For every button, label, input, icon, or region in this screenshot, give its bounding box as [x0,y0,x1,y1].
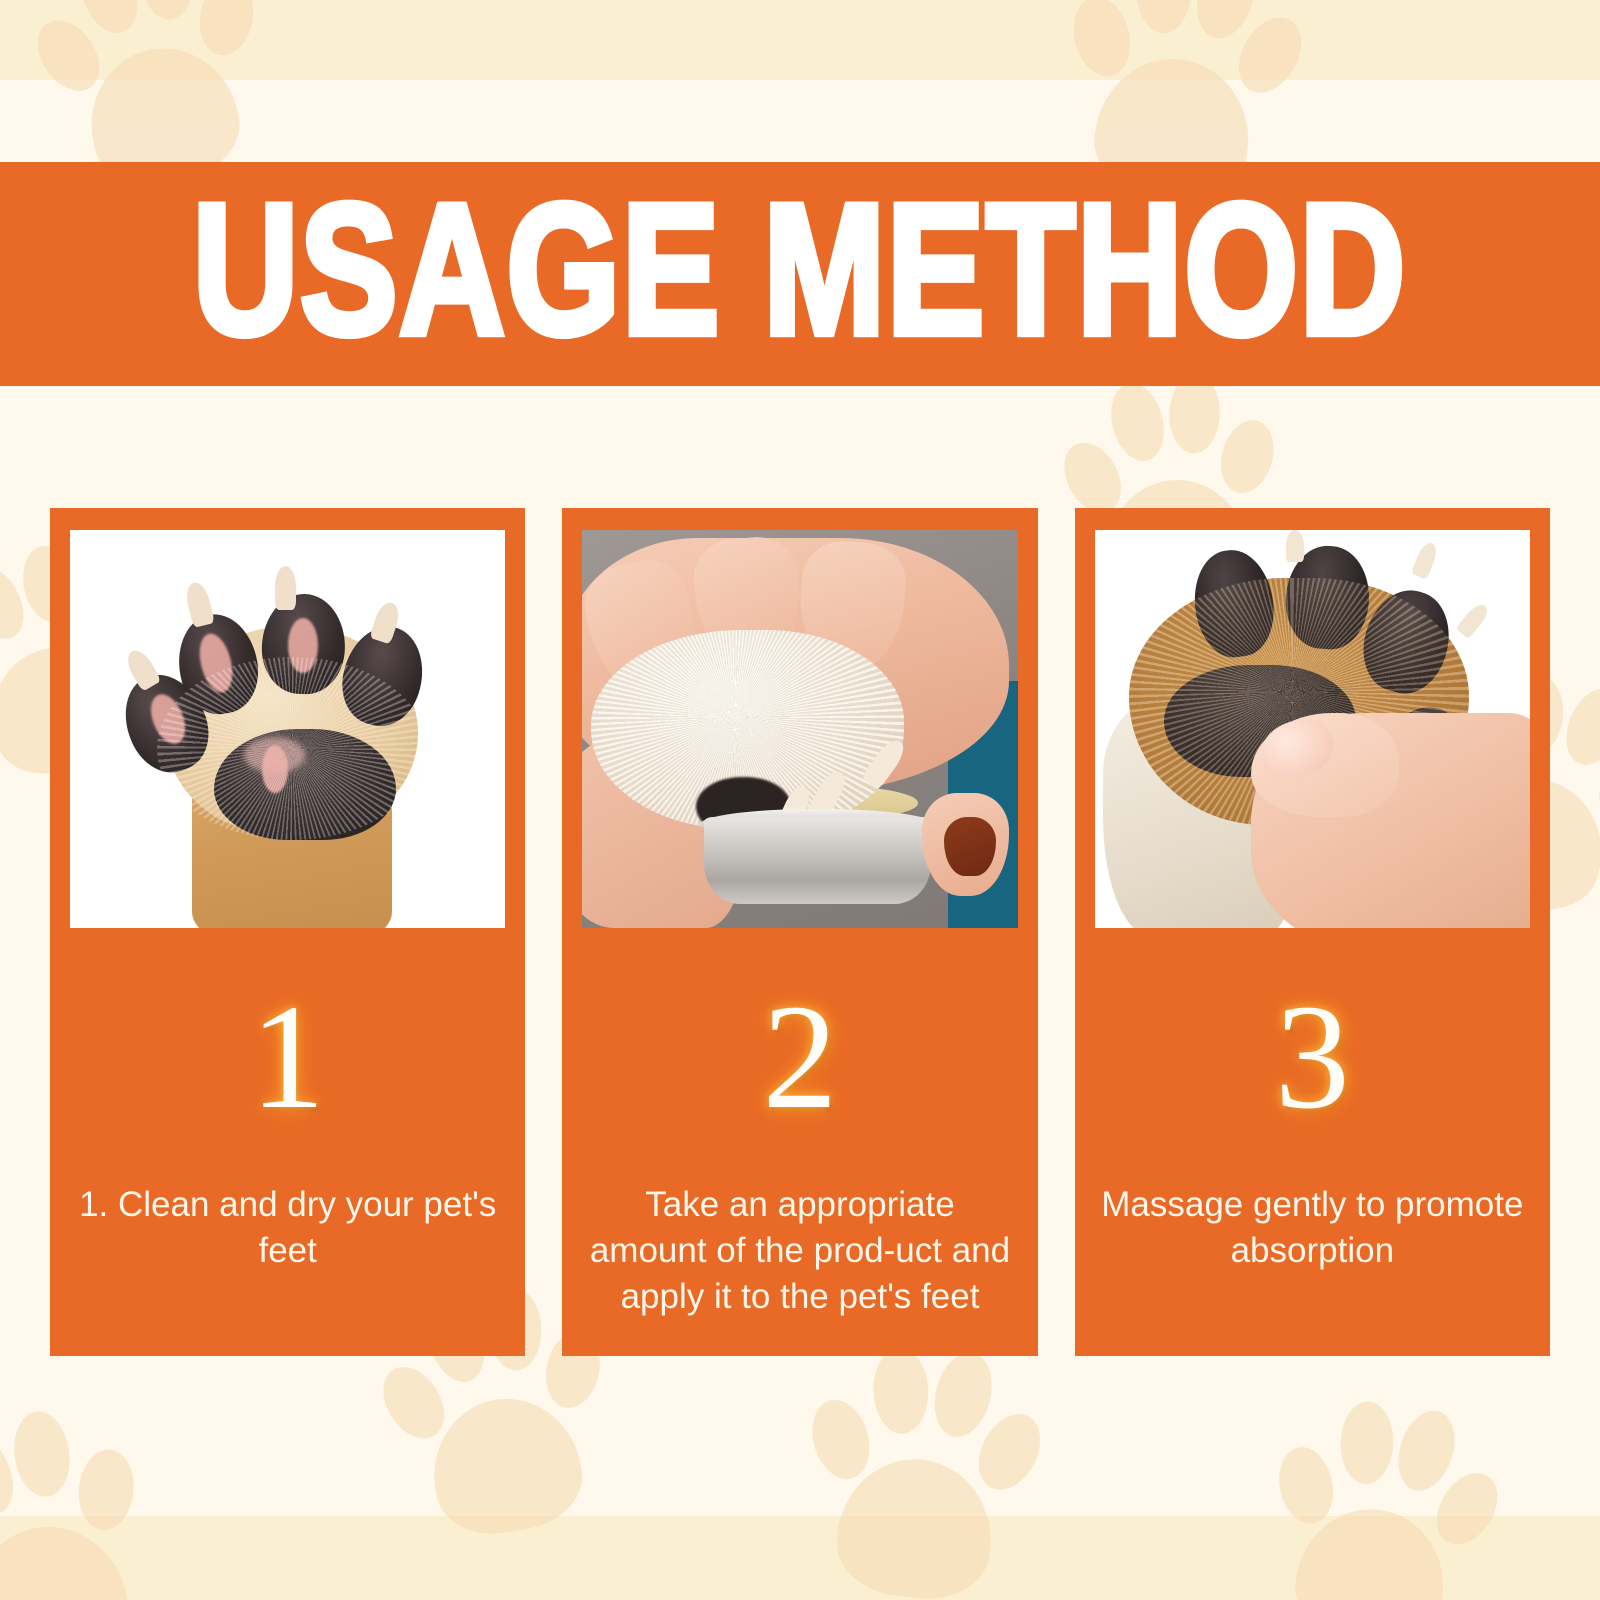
background-band-top [0,0,1600,80]
step-caption-1: 1. Clean and dry your pet's feet [70,1182,505,1274]
step-1-photo-puppy-paw [70,530,505,928]
step-caption-2: Take an appropriate amount of the prod-u… [582,1182,1017,1321]
step-card-2[interactable]: 2 Take an appropriate amount of the prod… [562,508,1037,1356]
step-card-3[interactable]: 3 Massage gently to promote absorption [1075,508,1550,1356]
step-number-1: 1 [250,982,325,1132]
background-band-upper [0,80,1600,162]
steps-row: 1 1. Clean and dry your pet's feet [50,508,1550,1356]
step-3-photo-massaging-paw [1095,530,1530,928]
step-number-2: 2 [762,982,837,1132]
step-caption-3: Massage gently to promote absorption [1095,1182,1530,1274]
page-title: USAGE METHOD [193,178,1407,371]
header-banner: USAGE METHOD [0,162,1600,386]
step-card-1[interactable]: 1 1. Clean and dry your pet's feet [50,508,525,1356]
step-number-3: 3 [1275,982,1350,1132]
background-band-bottom [0,1516,1600,1600]
step-2-photo-applying-balm [582,530,1017,928]
usage-method-infographic: USAGE METHOD [0,0,1600,1600]
